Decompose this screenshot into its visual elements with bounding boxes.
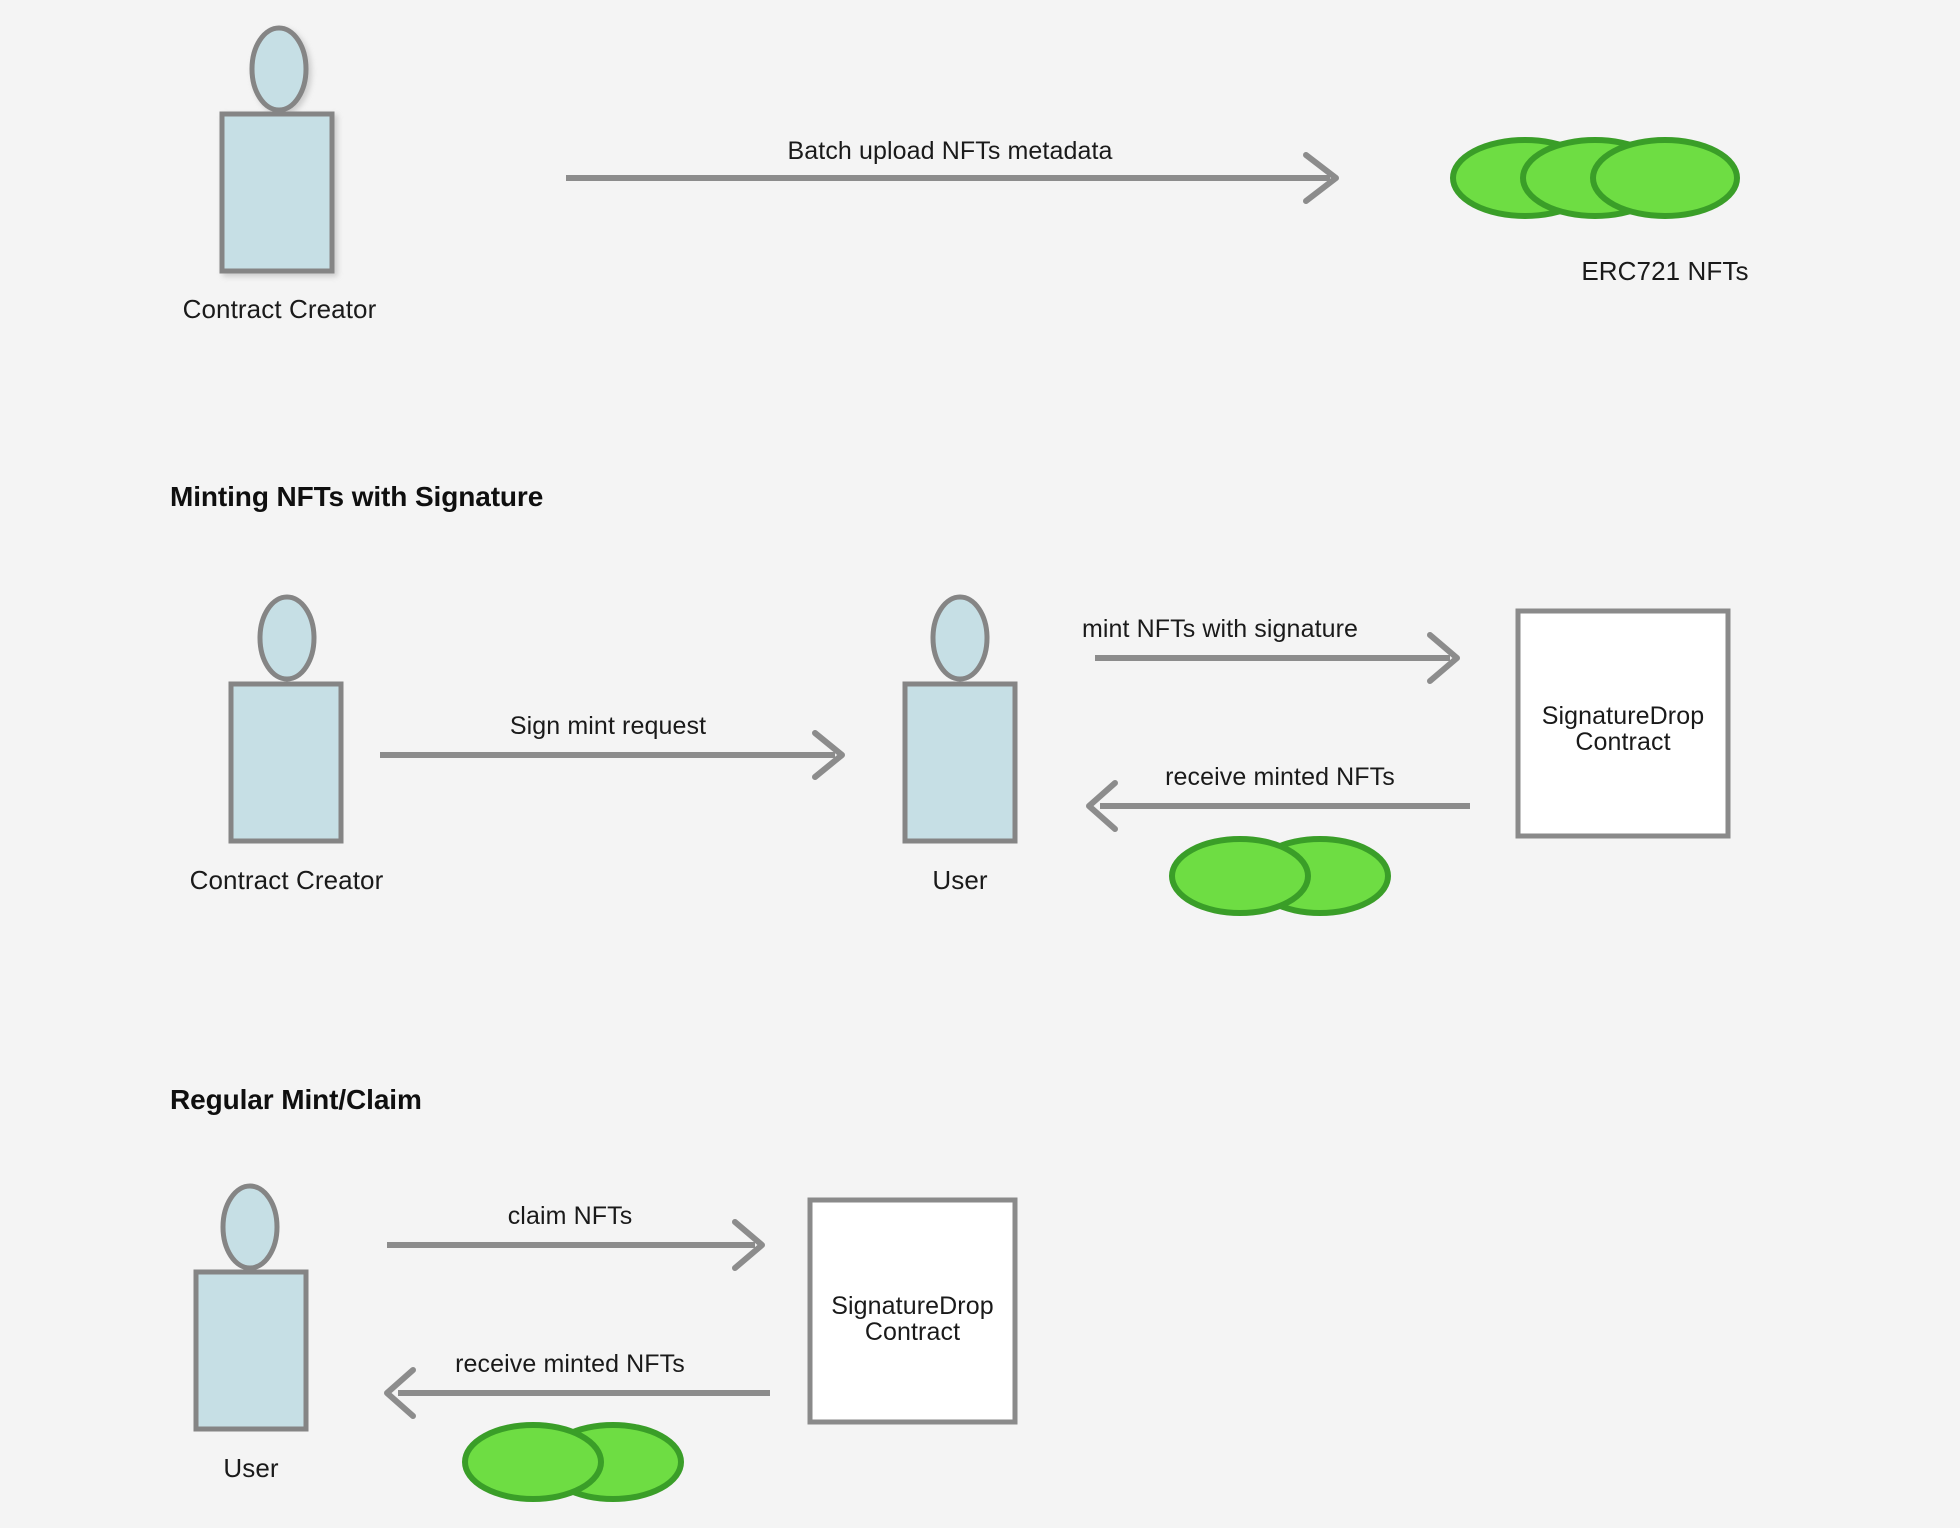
actor-contract-creator-mid [231,597,341,841]
nft-ellipse-icon [1172,839,1308,913]
diagram-canvas: Contract Creator Batch upload NFTs metad… [0,0,1960,1528]
edge-label-mint-nfts-with-signature: mint NFTs with signature [1000,613,1440,645]
actor-body-icon [905,684,1015,841]
edge-label-receive-minted-nfts-bottom: receive minted NFTs [360,1348,780,1380]
nft-ellipse-icon [1593,140,1737,216]
nft-stack-minted-bottom [465,1425,681,1499]
actor-head-icon [223,1186,277,1268]
actor-body-icon [231,684,341,841]
section-heading-minting-signature: Minting NFTs with Signature [170,481,543,513]
nft-stack-erc721 [1453,140,1737,216]
actor-user-bottom [196,1186,306,1429]
box-label-signature-drop-contract-mid-line2: Contract [1518,726,1728,758]
actor-contract-creator-top [222,28,332,271]
actor-head-icon [260,597,314,679]
actor-label-user-mid: User [860,864,1060,897]
actor-label-user-bottom: User [151,1452,351,1485]
edge-label-sign-mint-request: Sign mint request [408,710,808,742]
box-label-signature-drop-contract-bottom-line2: Contract [810,1316,1015,1348]
actor-body-icon [196,1272,306,1429]
edge-label-claim-nfts: claim NFTs [380,1200,760,1232]
actor-label-contract-creator-mid: Contract Creator [134,864,439,897]
actor-body-icon [222,114,332,271]
nft-stack-minted-mid [1172,839,1388,913]
actor-label-contract-creator-top: Contract Creator [127,293,432,326]
edge-label-batch-upload: Batch upload NFTs metadata [600,135,1300,167]
actor-user-mid [905,597,1015,841]
edge-label-receive-minted-nfts-mid: receive minted NFTs [1070,761,1490,793]
section-heading-regular-mint-claim: Regular Mint/Claim [170,1084,422,1116]
object-label-erc721-nfts: ERC721 NFTs [1445,255,1885,288]
actor-head-icon [252,28,306,110]
nft-ellipse-icon [465,1425,601,1499]
actor-head-icon [933,597,987,679]
